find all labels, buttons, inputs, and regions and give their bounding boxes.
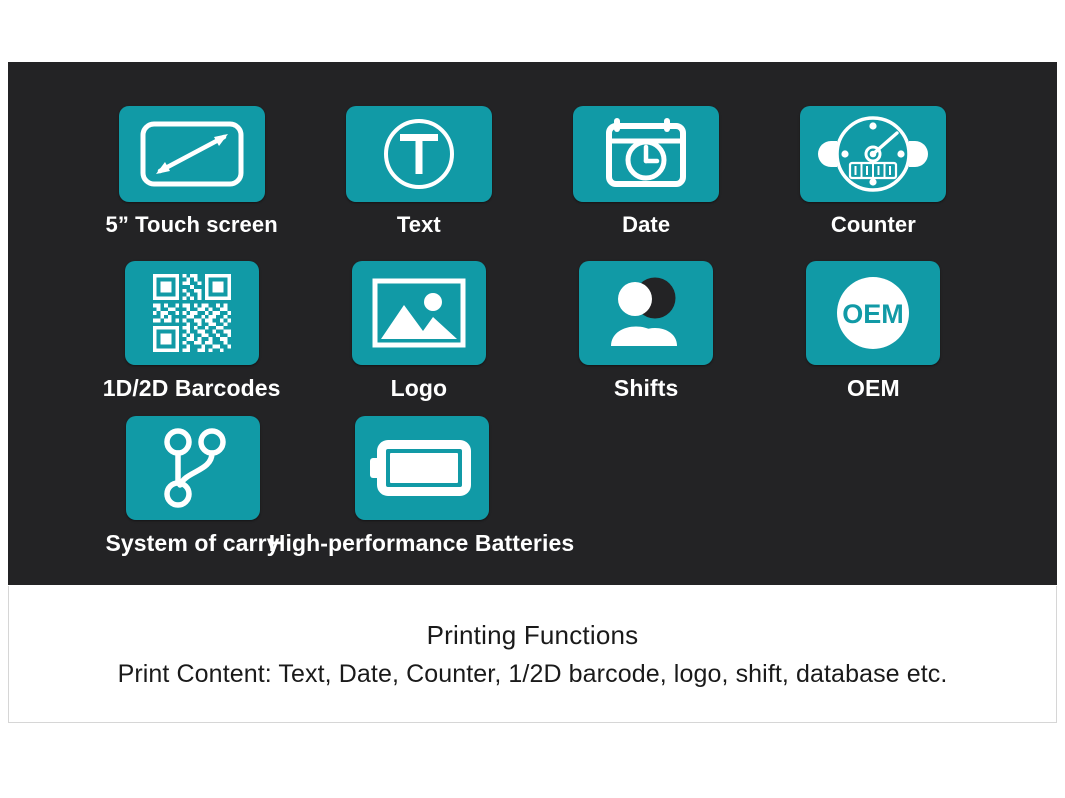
- feature-label: High-performance Batteries: [269, 531, 575, 555]
- feature-label: 5” Touch screen: [105, 213, 277, 236]
- feature-row: System of carry High-perf: [78, 416, 987, 571]
- date-calendar-clock-icon: [604, 114, 688, 194]
- feature-item-logo[interactable]: Logo: [305, 261, 532, 400]
- feature-item-text[interactable]: Text: [305, 106, 532, 236]
- logo-tile[interactable]: [352, 261, 486, 365]
- barcodes-tile[interactable]: [125, 261, 259, 365]
- feature-label: Text: [397, 213, 441, 236]
- touch-screen-icon: [138, 119, 246, 189]
- feature-grid: 5” Touch screen Text: [8, 62, 1057, 585]
- text-icon: [378, 113, 460, 195]
- shifts-tile[interactable]: [579, 261, 713, 365]
- feature-label: System of carry: [105, 531, 279, 555]
- feature-label: Counter: [831, 213, 916, 236]
- caption-card: Printing Functions Print Content: Text, …: [8, 586, 1057, 723]
- branch-carry-icon: [156, 427, 230, 509]
- oem-tile[interactable]: OEM: [806, 261, 940, 365]
- feature-label: Logo: [391, 376, 448, 400]
- feature-panel: 5” Touch screen Text: [8, 62, 1057, 585]
- feature-item-batteries[interactable]: High-performance Batteries: [307, 416, 536, 555]
- feature-label: Date: [622, 213, 670, 236]
- feature-row: 5” Touch screen Text: [78, 106, 987, 261]
- counter-tile[interactable]: [800, 106, 946, 202]
- oem-badge-text: OEM: [843, 299, 905, 329]
- batteries-tile[interactable]: [355, 416, 489, 520]
- touch-screen-tile[interactable]: [119, 106, 265, 202]
- feature-item-date[interactable]: Date: [533, 106, 760, 236]
- slide-page: 5” Touch screen Text: [0, 0, 1065, 798]
- oem-badge-icon: OEM: [830, 270, 916, 356]
- feature-item-barcodes[interactable]: 1D/2D Barcodes: [78, 261, 305, 400]
- counter-digits: [850, 163, 896, 178]
- feature-label: 1D/2D Barcodes: [103, 376, 281, 400]
- people-shifts-icon: [603, 276, 689, 350]
- text-tile[interactable]: [346, 106, 492, 202]
- system-of-carry-tile[interactable]: [126, 416, 260, 520]
- feature-item-oem[interactable]: OEM OEM: [760, 261, 987, 400]
- feature-label: OEM: [847, 376, 900, 400]
- feature-row: 1D/2D Barcodes Logo: [78, 261, 987, 416]
- qr-code-icon: [153, 274, 231, 352]
- image-logo-icon: [371, 277, 467, 349]
- feature-item-counter[interactable]: Counter: [760, 106, 987, 236]
- feature-item-shifts[interactable]: Shifts: [533, 261, 760, 400]
- battery-icon: [370, 434, 474, 502]
- counter-gauge-icon: [815, 113, 931, 195]
- caption-subtitle: Print Content: Text, Date, Counter, 1/2D…: [118, 660, 948, 689]
- feature-label: Shifts: [614, 376, 679, 400]
- feature-item-touch-screen[interactable]: 5” Touch screen: [78, 106, 305, 236]
- caption-title: Printing Functions: [427, 620, 639, 651]
- date-tile[interactable]: [573, 106, 719, 202]
